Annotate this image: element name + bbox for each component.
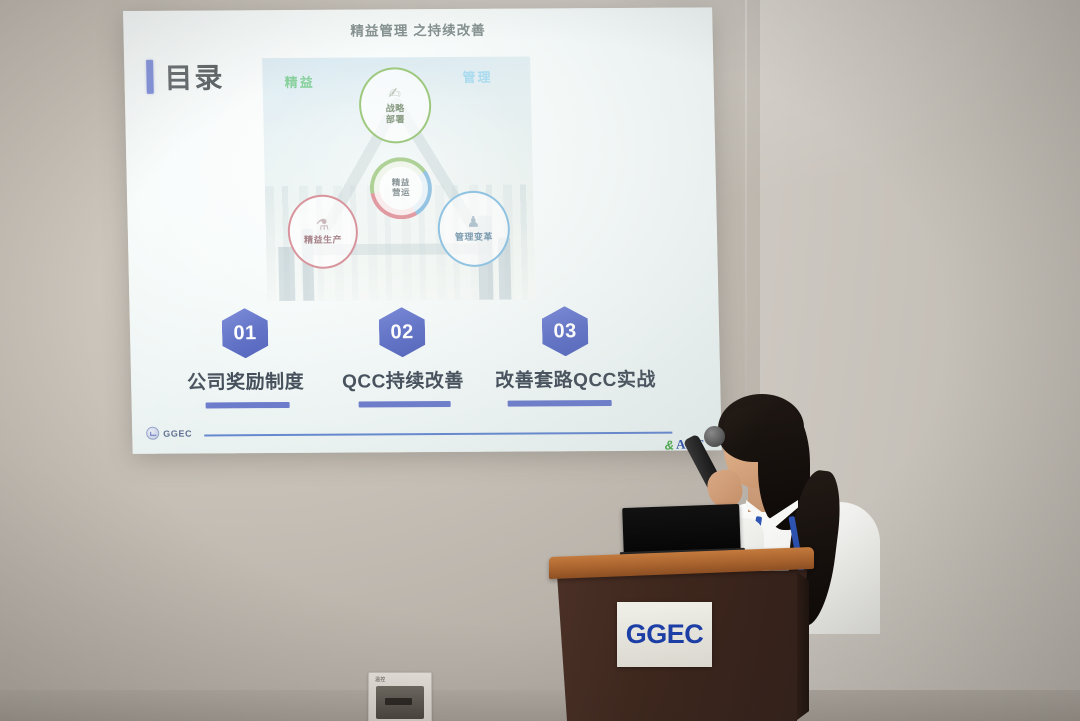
hex-badge-wrap: 01 [222,308,269,358]
agenda-item-label: 公司奖励制度 [187,367,305,395]
toc-heading: 目录 [146,56,225,96]
agenda-number-badge: 03 [542,306,589,356]
node-right-label: 管理变革 [455,232,493,243]
ggec-logo-icon [146,427,159,440]
triangle-diagram: 精益 管理 ✍ 战略部署 ⚗ 精益生产 ♟ 管理变革 精益营运 [262,57,535,302]
agenda-item-02[interactable]: 02 QCC持续改善 [341,307,465,408]
lecture-room-scene: 温控 精益管理 之持续改善 目录 精益 管理 [0,0,1080,721]
agenda-item-01[interactable]: 01 公司奖励制度 [186,308,305,409]
chess-icon: ♟ [467,215,481,230]
node-center-label: 精益营运 [392,178,410,198]
laptop[interactable] [622,504,741,557]
hex-badge-wrap: 03 [542,306,589,356]
podium-logo-text: GGEC [626,619,704,650]
agenda-number-badge: 01 [222,308,269,358]
podium-logo-plaque: GGEC [617,602,712,667]
aec-leaf-icon: & [664,437,674,452]
podium-side-edge [797,572,809,720]
agenda-underline [508,400,612,407]
agenda-number-badge: 02 [379,307,426,357]
diagram-left-label: 精益 [284,72,314,91]
diagram-right-label: 管理 [462,67,492,86]
ggec-logo-text: GGEC [163,428,192,438]
diagram-node-lean-production: ⚗ 精益生产 [287,195,359,269]
agenda-underline [359,401,451,408]
node-left-label: 精益生产 [304,235,342,246]
toc-heading-label: 目录 [164,56,225,96]
agenda-item-03[interactable]: 03 改善套路QCC实战 [494,306,657,407]
diagram-node-strategy: ✍ 战略部署 [358,67,432,143]
wall-panel-label: 温控 [375,676,386,683]
slide-footer-rule [204,432,672,437]
node-top-label: 战略部署 [386,103,405,124]
wall-control-panel[interactable]: 温控 [368,672,432,721]
wall-base-trim [0,690,1080,721]
projection-screen: 精益管理 之持续改善 目录 精益 管理 ✍ [123,7,722,453]
factory-icon: ⚗ [316,218,330,233]
slide-footer-left-logo: GGEC [146,427,192,440]
podium: GGEC [549,552,814,721]
diagram-node-management-reform: ♟ 管理变革 [437,191,511,267]
agenda-item-label: QCC持续改善 [342,366,464,394]
diagram-node-lean-operation: 精益营运 [373,161,428,215]
agenda-underline [206,402,290,409]
presentation-slide: 精益管理 之持续改善 目录 精益 管理 ✍ [123,7,722,453]
microphone-head-icon [704,426,725,447]
strategy-icon: ✍ [388,86,401,101]
agenda-item-label: 改善套路QCC实战 [495,365,656,393]
agenda-items: 01 公司奖励制度 02 QCC持续改善 03 改善套路QCC [156,305,703,408]
hex-badge-wrap: 02 [379,307,426,357]
slide-title: 精益管理 之持续改善 [123,17,712,41]
accent-bar [146,60,154,94]
wall-panel-display [376,686,424,719]
